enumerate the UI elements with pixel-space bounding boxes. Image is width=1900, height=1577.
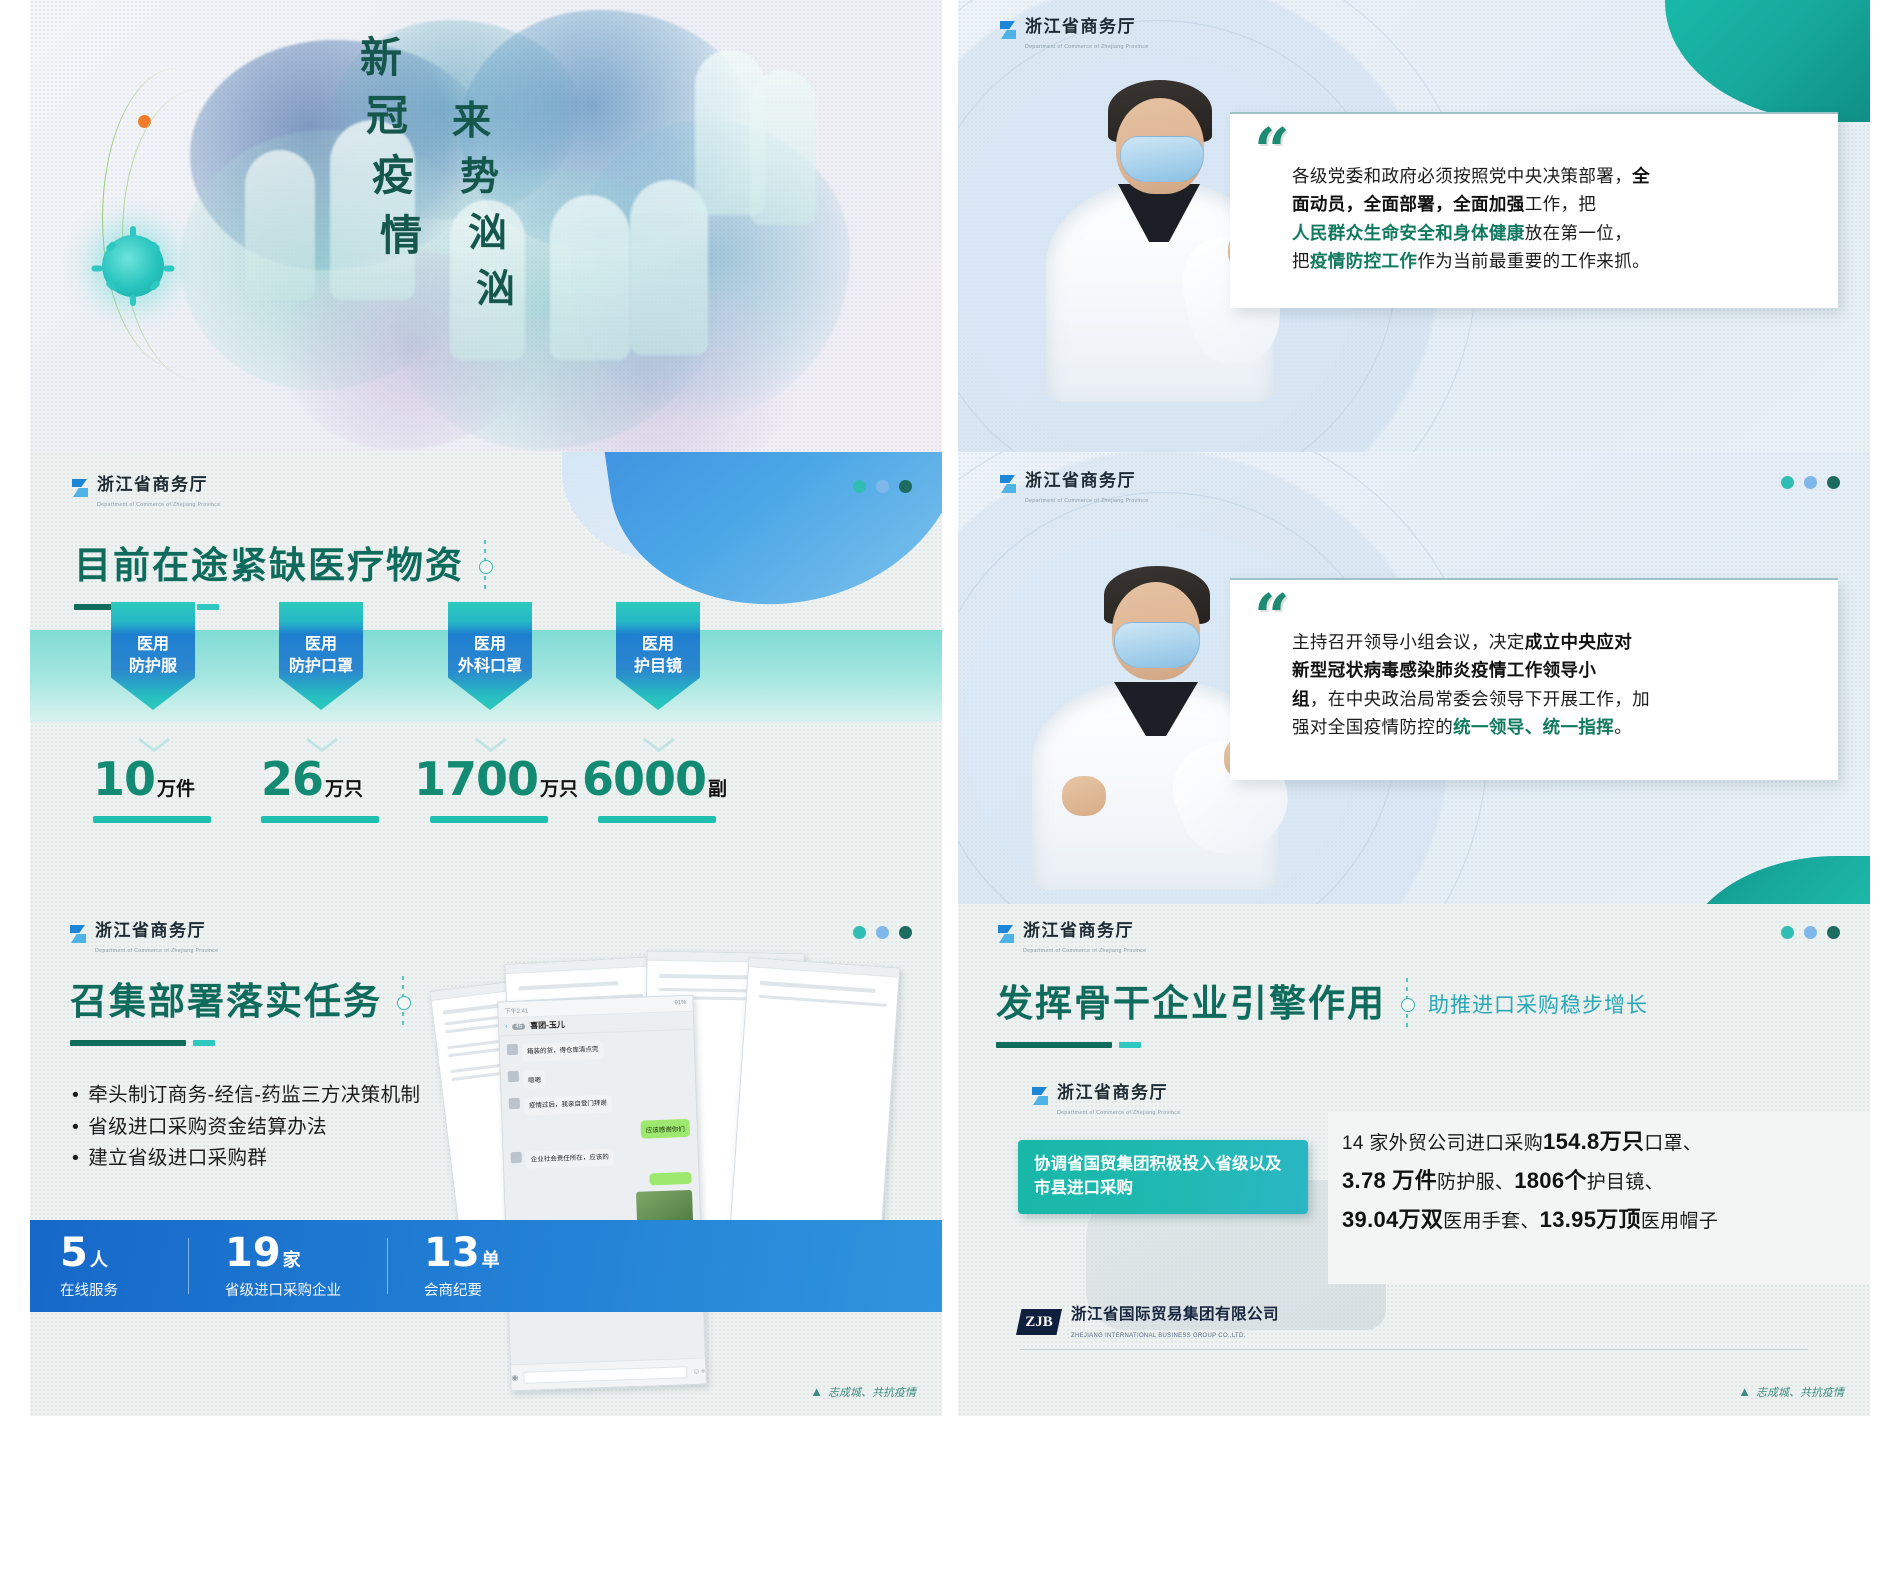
brand-name-cn: 浙江省商务厅 (1057, 1083, 1168, 1102)
slide-cover[interactable]: 新 冠 疫 情 来 势 汹 汹 (30, 0, 942, 512)
emoji-icon[interactable]: ☺ (692, 1367, 700, 1376)
footer-signature: ▲ 志成城、共抗疫情 (810, 1384, 916, 1400)
quote-span: 强对全国疫情防控的 (1292, 717, 1453, 737)
back-chevron-icon[interactable]: ‹ (505, 1023, 508, 1030)
quote-span: 全 (1632, 166, 1650, 186)
stats-line: 3.78 万件防护服、1806个护目镜、 (1342, 1161, 1854, 1200)
arc-line-2 (122, 90, 272, 380)
slide-quote-li[interactable]: 浙江省商务厅 Department of Commerce of Zhejian… (958, 452, 1870, 964)
band-divider (188, 1238, 189, 1294)
supply-pin-label-line2: 护目镜 (634, 656, 682, 678)
slide-quote-xi[interactable]: 浙江省商务厅 Department of Commerce of Zhejian… (958, 0, 1870, 512)
quote-span: 成立中央应对 (1525, 632, 1632, 652)
supply-stat-bar (261, 816, 379, 823)
supply-stat-value: 26 (261, 752, 323, 806)
stat-unit: 单 (482, 1250, 500, 1271)
brand-name-en: Department of Commerce of Zhejiang Provi… (1025, 498, 1148, 504)
footer-rule (1020, 1349, 1808, 1350)
quote-span: 把 (1292, 251, 1310, 271)
group-name-cn: 浙江省国际贸易集团有限公司 (1071, 1306, 1279, 1323)
cover-subtitle-char-2: 汹 (468, 214, 507, 253)
supply-pin-label-line1: 医用 (289, 634, 353, 656)
cover-title-char-3: 情 (380, 216, 422, 258)
quote-span: 面动员，全面部署，全面加强 (1292, 194, 1525, 214)
cover-title-char-2: 疫 (372, 156, 414, 198)
stats-span: 口罩、 (1644, 1133, 1702, 1154)
quote-card: “ 各级党委和政府必须按照党中央决策部署，全面动员，全面部署，全面加强工作，把人… (1230, 112, 1838, 308)
supply-stat-value: 6000 (582, 752, 706, 806)
stat-label: 会商纪要 (424, 1279, 544, 1300)
decor-dots-top-right (853, 480, 912, 493)
quote-line: 组，在中央政治局常委会领导下开展工作，加 (1292, 685, 1812, 713)
decor-dots-top-right (1781, 926, 1840, 939)
callout-box: 协调省国贸集团积极投入省级以及市县进口采购 (1018, 1140, 1308, 1214)
stat-label: 在线服务 (60, 1279, 182, 1300)
zhejiang-commerce-logo-icon (68, 924, 88, 946)
chevron-down-icon (139, 730, 167, 743)
quote-line: 新型冠状病毒感染肺炎疫情工作领导小 (1292, 656, 1812, 684)
signature-mark-icon: ▲ (810, 1384, 823, 1400)
chevron-down-icon (307, 730, 335, 743)
quote-span: 组 (1292, 689, 1310, 709)
zjib-logo-icon: ZJB (1016, 1309, 1062, 1335)
brand-name-cn: 浙江省商务厅 (1025, 471, 1136, 490)
quote-span: 工作，把 (1525, 194, 1597, 214)
stats-span: 154.8万只 (1543, 1129, 1644, 1154)
stats-span: 防护服、 (1437, 1172, 1514, 1193)
brand-name-en: Department of Commerce of Zhejiang Provi… (1057, 1110, 1180, 1116)
carrier-label: 下午2:41 (504, 1005, 528, 1015)
brand-name-cn: 浙江省商务厅 (95, 921, 206, 940)
cover-title-char-1: 冠 (366, 96, 408, 138)
cover-subtitle-char-1: 势 (460, 158, 499, 197)
decor-dots-top-right (1781, 476, 1840, 489)
stat-unit: 人 (90, 1250, 108, 1271)
band-divider (387, 1238, 388, 1294)
quote-span: 。 (1614, 717, 1632, 737)
group-logo: ZJB 浙江省国际贸易集团有限公司 ZHEJIANG INTERNATIONAL… (1016, 1302, 1279, 1342)
slide-grid: 新 冠 疫 情 来 势 汹 汹 浙江省商务厅 Department of Com… (0, 0, 1900, 1577)
quote-span: ，在中央政治局常委会领导下开展工作，加 (1310, 689, 1650, 709)
quote-line: 面动员，全面部署，全面加强工作，把 (1292, 190, 1808, 218)
quote-span: 主持召开领导小组会议，决定 (1292, 632, 1525, 652)
page-title: 发挥骨干企业引擎作用 (996, 984, 1386, 1025)
cover-subtitle-char-0: 来 (452, 102, 491, 141)
quote-span: 疫情防控工作 (1310, 251, 1417, 271)
quote-text: 主持召开领导小组会议，决定成立中央应对新型冠状病毒感染肺炎疫情工作领导小组，在中… (1230, 580, 1838, 741)
supply-pin-label: 医用护目镜 (634, 634, 682, 677)
title-divider (1406, 978, 1408, 1030)
brand-name-cn: 浙江省商务厅 (1025, 17, 1136, 36)
zhejiang-commerce-logo-icon (998, 474, 1018, 496)
chat-bubble: 箱装的货，得仓库清点完 (522, 1041, 604, 1062)
inner-brand-logo: 浙江省商务厅 Department of Commerce of Zhejian… (1030, 1084, 1180, 1118)
supply-stat-bar (430, 816, 548, 823)
stat-item: 19家省级进口采购企业 (195, 1233, 381, 1300)
brand-name-en: Department of Commerce of Zhejiang Provi… (1023, 948, 1146, 954)
cover-title-char-0: 新 (360, 38, 402, 80)
brand-name-en: Department of Commerce of Zhejiang Provi… (95, 948, 218, 954)
slide-heading: 发挥骨干企业引擎作用 助推进口采购稳步增长 (996, 978, 1648, 1048)
supply-stat: 1700万只 (414, 752, 578, 806)
quote-open-icon: “ (1254, 598, 1290, 635)
wechat-chat-screenshot[interactable]: 下午2:41 91% ‹ 45 喜团-玉儿 箱装的货，得仓库清点完 嗯嗯 疫情过… (497, 995, 706, 1392)
quote-span: 各级党委和政府必须按照党中央决策部署， (1292, 166, 1632, 186)
supply-pin-label-line2: 防护服 (129, 656, 177, 678)
quote-card: “ 主持召开领导小组会议，决定成立中央应对新型冠状病毒感染肺炎疫情工作领导小组，… (1230, 578, 1838, 780)
plus-icon[interactable]: + (700, 1367, 705, 1376)
stat-label: 省级进口采购企业 (225, 1279, 381, 1300)
stats-band: 5人在线服务19家省级进口采购企业13单会商纪要 (30, 1220, 942, 1312)
chat-title: 喜团-玉儿 (530, 1019, 565, 1031)
slide-heading: 目前在途紧缺医疗物资 (74, 540, 486, 610)
supply-stat-bar (598, 816, 716, 823)
brand-logo: 浙江省商务厅 Department of Commerce of Zhejian… (70, 476, 220, 510)
zhejiang-commerce-logo-icon (1030, 1086, 1050, 1108)
brand-name-en: Department of Commerce of Zhejiang Provi… (1025, 44, 1148, 50)
brand-name-cn: 浙江省商务厅 (97, 475, 208, 494)
stats-text: 14 家外贸公司进口采购154.8万只口罩、3.78 万件防护服、1806个护目… (1342, 1122, 1854, 1239)
supply-pin-label-line1: 医用 (458, 634, 522, 656)
decor-wave-blue (598, 452, 942, 626)
slide-backbone-enterprise[interactable]: 浙江省商务厅 Department of Commerce of Zhejian… (958, 904, 1870, 1416)
voice-icon[interactable]: ◉ (511, 1373, 518, 1382)
title-underline (70, 1040, 404, 1046)
quote-span: 放在第一位， (1525, 223, 1632, 243)
quote-line: 人民群众生命安全和身体健康放在第一位， (1292, 219, 1808, 247)
title-divider (484, 540, 486, 592)
corner-decoration-top-right (1665, 0, 1870, 122)
brand-logo: 浙江省商务厅 Department of Commerce of Zhejian… (998, 18, 1148, 52)
stat-number: 13单 (424, 1233, 544, 1273)
title-underline (996, 1042, 1648, 1048)
brand-name-cn: 浙江省商务厅 (1023, 921, 1134, 940)
quote-span: 新型冠状病毒感染肺炎疫情工作领导小 (1292, 660, 1596, 680)
quote-line: 主持召开领导小组会议，决定成立中央应对 (1292, 628, 1812, 656)
brand-name-en: Department of Commerce of Zhejiang Provi… (97, 502, 220, 508)
brand-logo: 浙江省商务厅 Department of Commerce of Zhejian… (68, 922, 218, 956)
page-title: 目前在途紧缺医疗物资 (74, 546, 464, 587)
quote-span: 统一领导、统一指挥 (1453, 717, 1614, 737)
stats-span: 护目镜、 (1587, 1172, 1664, 1193)
stats-span: 医用手套、 (1443, 1211, 1540, 1232)
cover-subtitle-char-3: 汹 (476, 270, 515, 309)
supply-pin-label-line1: 医用 (129, 634, 177, 656)
quote-line: 各级党委和政府必须按照党中央决策部署，全 (1292, 162, 1808, 190)
signature-mark-icon: ▲ (1738, 1384, 1751, 1400)
supply-stat: 6000副 (582, 752, 727, 806)
supply-stat-value: 1700 (414, 752, 538, 806)
quote-span: 人民群众生命安全和身体健康 (1292, 223, 1525, 243)
quote-text: 各级党委和政府必须按照党中央决策部署，全面动员，全面部署，全面加强工作，把人民群… (1230, 114, 1838, 275)
chevron-down-icon (476, 730, 504, 743)
stat-number: 5人 (60, 1233, 182, 1273)
zhejiang-commerce-logo-icon (70, 478, 90, 500)
unread-badge: 45 (512, 1023, 525, 1029)
stats-span: 1806个 (1514, 1168, 1586, 1193)
stats-span: 医用帽子 (1641, 1211, 1718, 1232)
stats-line: 14 家外贸公司进口采购154.8万只口罩、 (1342, 1122, 1854, 1161)
chat-screenshot-collage: 下午2:41 91% ‹ 45 喜团-玉儿 箱装的货，得仓库清点完 嗯嗯 疫情过… (408, 952, 928, 1402)
supply-pin-label: 医用防护服 (129, 634, 177, 677)
slide-medical-supplies[interactable]: 浙江省商务厅 Department of Commerce of Zhejian… (30, 452, 942, 964)
supply-pin-label-line1: 医用 (634, 634, 682, 656)
supply-pin-label: 医用外科口罩 (458, 634, 522, 677)
group-name-en: ZHEJIANG INTERNATIONAL BUSINESS GROUP CO… (1071, 1333, 1246, 1339)
stats-span: 14 (1342, 1133, 1369, 1154)
stats-span: 3.78 万件 (1342, 1168, 1437, 1193)
title-divider (402, 976, 404, 1028)
zhejiang-commerce-logo-icon (998, 20, 1018, 42)
battery-label: 91% (674, 1000, 686, 1006)
quote-open-icon: “ (1254, 132, 1290, 169)
supply-pin-label-line2: 防护口罩 (289, 656, 353, 678)
decor-dots-top-right (853, 926, 912, 939)
stat-unit: 家 (283, 1250, 301, 1271)
quote-span: 作为当前最重要的工作来抓。 (1417, 251, 1650, 271)
virus-icon (102, 235, 164, 297)
quote-line: 强对全国疫情防控的统一领导、统一指挥。 (1292, 713, 1812, 741)
chat-bubble: 嗯嗯 (523, 1070, 547, 1089)
stats-span: 13.95万顶 (1540, 1207, 1641, 1232)
page-title: 召集部署落实任务 (70, 982, 382, 1023)
supply-stat-unit: 万件 (157, 774, 195, 801)
supply-stat-value: 10 (93, 752, 155, 806)
stat-item: 5人在线服务 (30, 1233, 182, 1300)
chevron-down-icon (644, 730, 672, 743)
signature-text: 志成城、共抗疫情 (828, 1384, 916, 1400)
brand-logo: 浙江省商务厅 Department of Commerce of Zhejian… (996, 922, 1146, 956)
stat-number: 19家 (225, 1233, 381, 1273)
supply-stat-bar (93, 816, 211, 823)
slide-convene-deploy[interactable]: 浙江省商务厅 Department of Commerce of Zhejian… (30, 904, 942, 1416)
supply-pin-label: 医用防护口罩 (289, 634, 353, 677)
supply-pin-label-line2: 外科口罩 (458, 656, 522, 678)
quote-line: 把疫情防控工作作为当前最重要的工作来抓。 (1292, 247, 1808, 275)
zhejiang-commerce-logo-icon (996, 924, 1016, 946)
supply-stat-unit: 副 (708, 774, 727, 801)
stats-line: 39.04万双医用手套、13.95万顶医用帽子 (1342, 1200, 1854, 1239)
stats-span: 39.04万双 (1342, 1207, 1443, 1232)
cover-title-group: 新 冠 疫 情 来 势 汹 汹 (360, 38, 620, 338)
signature-text: 志成城、共抗疫情 (1756, 1384, 1844, 1400)
page-subtitle: 助推进口采购稳步增长 (1428, 989, 1648, 1019)
chat-bubble: 疫情过后，我亲自登门拜谢 (524, 1094, 613, 1115)
supply-stat-unit: 万只 (540, 774, 578, 801)
slide-heading: 召集部署落实任务 (70, 976, 404, 1046)
brand-logo: 浙江省商务厅 Department of Commerce of Zhejian… (998, 472, 1148, 506)
supply-stat: 10万件 (93, 752, 195, 806)
stats-span: 家外贸公司进口采购 (1369, 1133, 1543, 1154)
input-field[interactable] (523, 1366, 687, 1384)
stat-item: 13单会商纪要 (394, 1233, 544, 1300)
chat-bubble-self: 应该感谢你们 (640, 1118, 690, 1138)
footer-signature: ▲ 志成城、共抗疫情 (1738, 1384, 1844, 1400)
chat-bubble: 企业社会责任所在，应该的 (525, 1148, 614, 1169)
supply-stat: 26万只 (261, 752, 363, 806)
supply-stat-unit: 万只 (325, 774, 363, 801)
